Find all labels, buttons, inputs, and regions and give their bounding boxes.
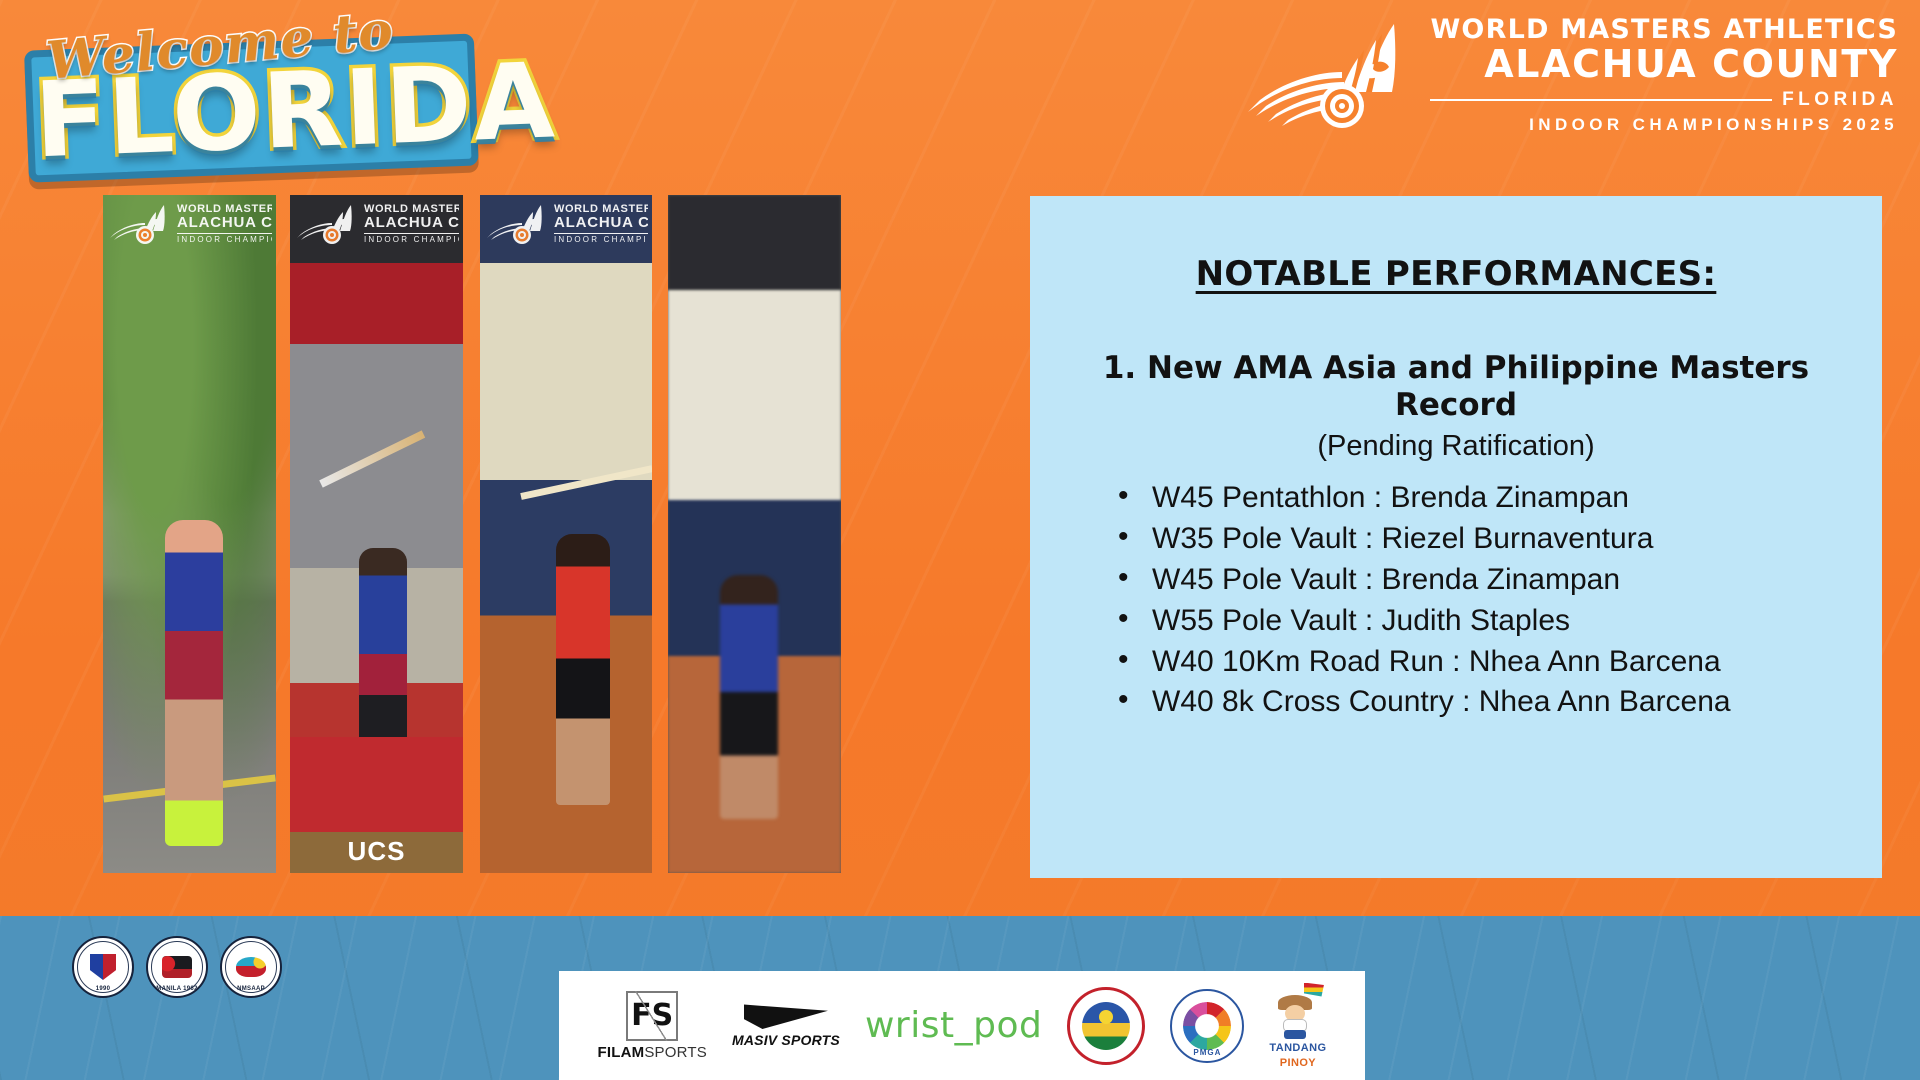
filamsports-label-bold: FILAM xyxy=(598,1044,645,1061)
event-logo-line3: FLORIDA xyxy=(1782,90,1898,109)
philippine-sports-commission-seal: 1990 xyxy=(72,936,134,998)
welcome-to-florida-sign: Welcome to FLORIDA xyxy=(15,0,492,197)
sprinter-figure xyxy=(720,575,778,819)
sponsor-filamsports: FS FILAMSPORTS xyxy=(598,991,707,1061)
tandang-pinoy-label-line1: TANDANG xyxy=(1269,1042,1326,1054)
sponsor-city-of-mandaluyong xyxy=(1067,987,1145,1065)
sponsor-wrist-pod: wrist_pod xyxy=(865,1005,1042,1046)
sponsor-logo-bar: FS FILAMSPORTS MASIV SPORTS wrist_pod PM… xyxy=(559,971,1365,1080)
panel-title: NOTABLE PERFORMANCES: xyxy=(1070,254,1842,294)
city-seal-core xyxy=(1082,1002,1130,1050)
event-logo-line4: INDOOR CHAMPIONSHIPS 2025 xyxy=(1430,116,1898,133)
tandang-pinoy-label-line2: PINOY xyxy=(1280,1057,1316,1069)
list-item: W55 Pole Vault : Judith Staples xyxy=(1118,602,1842,640)
ucs-mat-banner: UCS xyxy=(290,737,463,873)
patafa-seal: MANILA 1962 xyxy=(146,936,208,998)
runner-figure xyxy=(165,520,223,845)
sponsor-masiv-sports: MASIV SPORTS xyxy=(732,1003,840,1048)
footer-bar: 1990 MANILA 1962 NMSAAP FS FILAMSPORTS M… xyxy=(0,916,1920,1080)
pmga-colorwheel-icon xyxy=(1183,1002,1231,1050)
photo-2-scene: UCS xyxy=(290,195,463,873)
photo-road-race-runner: WORLD MASTERS ATHLETICS ALACHUA COUNTY I… xyxy=(103,195,276,873)
flag-icon xyxy=(1304,983,1324,997)
sponsor-pmga: PMGA xyxy=(1170,989,1244,1063)
record-subheading: (Pending Ratification) xyxy=(1070,430,1842,463)
city-of-mandaluyong-seal-icon xyxy=(1067,987,1145,1065)
list-item: W40 10Km Road Run : Nhea Ann Barcena xyxy=(1118,643,1842,681)
record-heading: 1. New AMA Asia and Philippine Masters R… xyxy=(1070,350,1842,424)
sponsor-tandang-pinoy: TANDANG PINOY xyxy=(1269,983,1326,1069)
pmga-label: PMGA xyxy=(1172,1048,1242,1057)
filamsports-mark-icon: FS xyxy=(626,991,678,1041)
masiv-sports-label: MASIV SPORTS xyxy=(732,1032,840,1048)
photo-pole-vault-approach: UCS WORLD MASTERS ATHLETICS ALACHUA xyxy=(290,195,463,873)
list-item: W45 Pole Vault : Brenda Zinampan xyxy=(1118,561,1842,599)
event-logo-divider xyxy=(1430,99,1772,101)
wma-shell-icon xyxy=(1246,20,1414,130)
event-logo: WORLD MASTERS ATHLETICS ALACHUA COUNTY F… xyxy=(1246,16,1898,133)
vaulter-figure xyxy=(556,534,610,805)
tandang-pinoy-mascot-icon xyxy=(1274,983,1322,1039)
seal-label: NMSAAP xyxy=(222,986,280,992)
notable-performances-panel: NOTABLE PERFORMANCES: 1. New AMA Asia an… xyxy=(1030,196,1882,878)
photo-pole-vault-run-up: WORLD MASTERS ATHLETICS ALACHUA COUNTY I… xyxy=(480,195,652,873)
performance-list: W45 Pentathlon : Brenda Zinampan W35 Pol… xyxy=(1118,479,1842,721)
pmga-seal-icon: PMGA xyxy=(1170,989,1244,1063)
legs-icon xyxy=(1284,1030,1306,1039)
photo-indoor-sprint-blur xyxy=(668,195,841,873)
government-seals: 1990 MANILA 1962 NMSAAP xyxy=(72,936,282,998)
filamsports-label: FILAMSPORTS xyxy=(598,1044,707,1061)
seal-year: 1990 xyxy=(74,986,132,992)
sun-icon xyxy=(1099,1010,1113,1024)
event-logo-line1: WORLD MASTERS ATHLETICS xyxy=(1430,16,1898,43)
filamsports-label-light: SPORTS xyxy=(644,1044,707,1061)
wrist-pod-label: wrist_pod xyxy=(865,1005,1042,1046)
masiv-sports-arrow-icon xyxy=(744,1003,828,1029)
vault-pole xyxy=(521,465,652,500)
photo-3-scene xyxy=(480,195,652,873)
seal-year: MANILA 1962 xyxy=(148,986,206,992)
event-logo-line2: ALACHUA COUNTY xyxy=(1430,45,1898,83)
list-item: W40 8k Cross Country : Nhea Ann Barcena xyxy=(1118,683,1842,721)
list-item: W45 Pentathlon : Brenda Zinampan xyxy=(1118,479,1842,517)
photo-1-scene xyxy=(103,195,276,873)
list-item: W35 Pole Vault : Riezel Burnaventura xyxy=(1118,520,1842,558)
nmsaap-seal: NMSAAP xyxy=(220,936,282,998)
vault-pole xyxy=(319,430,425,487)
